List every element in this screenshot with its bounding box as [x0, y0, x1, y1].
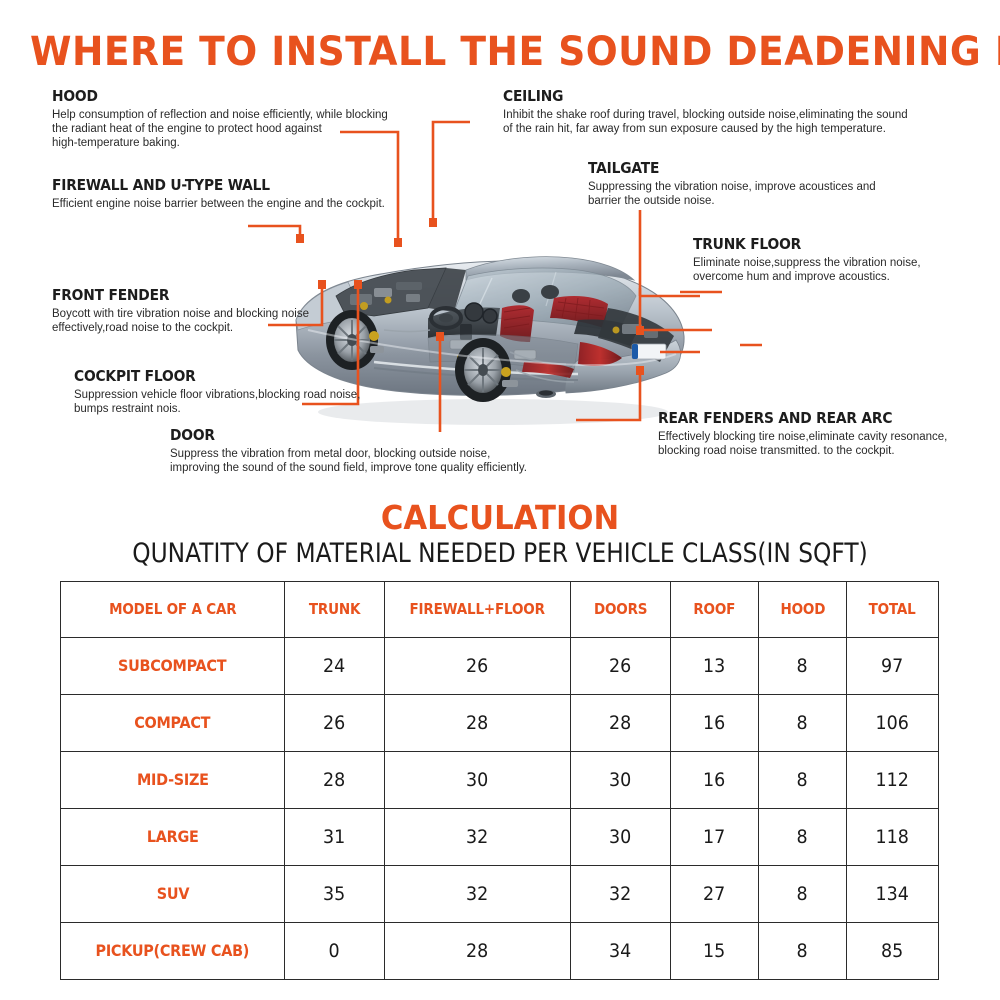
table-row: COMPACT 26 28 28 16 8 106	[61, 695, 939, 752]
callout-ceiling: CEILING Inhibit the shake roof during tr…	[503, 88, 948, 136]
callout-title: TAILGATE	[588, 160, 910, 177]
callout-cockpit-floor: COCKPIT FLOOR Suppression vehicle floor …	[74, 368, 404, 416]
cell-trunk: 35	[285, 866, 385, 923]
cell-firewall-floor: 26	[385, 638, 571, 695]
col-header-firewall-floor: FIREWALL+FLOOR	[385, 582, 571, 638]
callout-title: HOOD	[52, 88, 383, 105]
cell-doors: 30	[571, 809, 671, 866]
infographic-page: WHERE TO INSTALL THE SOUND DEADENING MAT…	[0, 0, 1000, 1000]
cell-roof: 16	[671, 695, 759, 752]
cell-hood: 8	[759, 923, 847, 980]
callout-body: Boycott with tire vibration noise and bl…	[52, 307, 382, 335]
cell-doors: 26	[571, 638, 671, 695]
callout-body: Inhibit the shake roof during travel, bl…	[503, 108, 948, 136]
cell-trunk: 26	[285, 695, 385, 752]
table-row: SUV 35 32 32 27 8 134	[61, 866, 939, 923]
cell-roof: 27	[671, 866, 759, 923]
callout-tailgate: TAILGATE Suppressing the vibration noise…	[588, 160, 938, 208]
col-header-total: TOTAL	[847, 582, 939, 638]
cell-model: MID-SIZE	[61, 752, 285, 809]
cell-total: 134	[847, 866, 939, 923]
cell-doors: 28	[571, 695, 671, 752]
callout-title: CEILING	[503, 88, 912, 105]
callout-hood: HOOD Help consumption of reflection and …	[52, 88, 412, 150]
cell-hood: 8	[759, 695, 847, 752]
callout-title: COCKPIT FLOOR	[74, 368, 378, 385]
callout-body: Suppression vehicle floor vibrations,blo…	[74, 388, 404, 416]
cell-hood: 8	[759, 866, 847, 923]
callout-body: Effectively blocking tire noise,eliminat…	[658, 430, 998, 458]
table-header-row: MODEL OF A CAR TRUNK FIREWALL+FLOOR DOOR…	[61, 582, 939, 638]
col-header-hood: HOOD	[759, 582, 847, 638]
table-row: MID-SIZE 28 30 30 16 8 112	[61, 752, 939, 809]
cell-model: SUV	[61, 866, 285, 923]
callout-title: REAR FENDERS AND REAR ARC	[658, 410, 971, 427]
col-header-roof: ROOF	[671, 582, 759, 638]
callout-title: DOOR	[170, 427, 520, 444]
table-row: PICKUP(CREW CAB) 0 28 34 15 8 85	[61, 923, 939, 980]
callout-body: Suppress the vibration from metal door, …	[170, 447, 550, 475]
cell-firewall-floor: 28	[385, 923, 571, 980]
callout-front-fender: FRONT FENDER Boycott with tire vibration…	[52, 287, 382, 335]
callout-body: Efficient engine noise barrier between t…	[52, 197, 412, 211]
cell-total: 85	[847, 923, 939, 980]
cell-total: 97	[847, 638, 939, 695]
cell-trunk: 28	[285, 752, 385, 809]
material-quantity-table: MODEL OF A CAR TRUNK FIREWALL+FLOOR DOOR…	[60, 581, 939, 980]
callout-body: Eliminate noise,suppress the vibration n…	[693, 256, 993, 284]
cell-hood: 8	[759, 752, 847, 809]
callout-title: TRUNK FLOOR	[693, 236, 969, 253]
cell-firewall-floor: 32	[385, 809, 571, 866]
callout-door: DOOR Suppress the vibration from metal d…	[170, 427, 550, 475]
cell-doors: 30	[571, 752, 671, 809]
callout-body: Suppressing the vibration noise, improve…	[588, 180, 938, 208]
cell-trunk: 0	[285, 923, 385, 980]
calculation-title: CALCULATION	[35, 500, 965, 536]
col-header-model: MODEL OF A CAR	[61, 582, 285, 638]
cell-total: 106	[847, 695, 939, 752]
table-row: LARGE 31 32 30 17 8 118	[61, 809, 939, 866]
callout-firewall: FIREWALL AND U-TYPE WALL Efficient engin…	[52, 177, 412, 211]
cell-total: 118	[847, 809, 939, 866]
cell-trunk: 31	[285, 809, 385, 866]
cell-model: LARGE	[61, 809, 285, 866]
cell-model: COMPACT	[61, 695, 285, 752]
callout-title: FRONT FENDER	[52, 287, 356, 304]
cell-roof: 17	[671, 809, 759, 866]
cell-doors: 32	[571, 866, 671, 923]
cell-firewall-floor: 32	[385, 866, 571, 923]
cell-hood: 8	[759, 638, 847, 695]
cell-total: 112	[847, 752, 939, 809]
callout-trunk-floor: TRUNK FLOOR Eliminate noise,suppress the…	[693, 236, 993, 284]
cell-hood: 8	[759, 809, 847, 866]
callout-title: FIREWALL AND U-TYPE WALL	[52, 177, 383, 194]
cell-firewall-floor: 28	[385, 695, 571, 752]
callout-rear-fenders: REAR FENDERS AND REAR ARC Effectively bl…	[658, 410, 998, 458]
table-row: SUBCOMPACT 24 26 26 13 8 97	[61, 638, 939, 695]
col-header-doors: DOORS	[571, 582, 671, 638]
callout-body: Help consumption of reflection and noise…	[52, 108, 412, 150]
cell-roof: 15	[671, 923, 759, 980]
page-title: WHERE TO INSTALL THE SOUND DEADENING MAT…	[30, 30, 970, 74]
cell-model: PICKUP(CREW CAB)	[61, 923, 285, 980]
cell-roof: 13	[671, 638, 759, 695]
cell-firewall-floor: 30	[385, 752, 571, 809]
cell-doors: 34	[571, 923, 671, 980]
calculation-subtitle: QUNATITY OF MATERIAL NEEDED PER VEHICLE …	[60, 539, 940, 569]
cell-roof: 16	[671, 752, 759, 809]
cell-model: SUBCOMPACT	[61, 638, 285, 695]
col-header-trunk: TRUNK	[285, 582, 385, 638]
cell-trunk: 24	[285, 638, 385, 695]
